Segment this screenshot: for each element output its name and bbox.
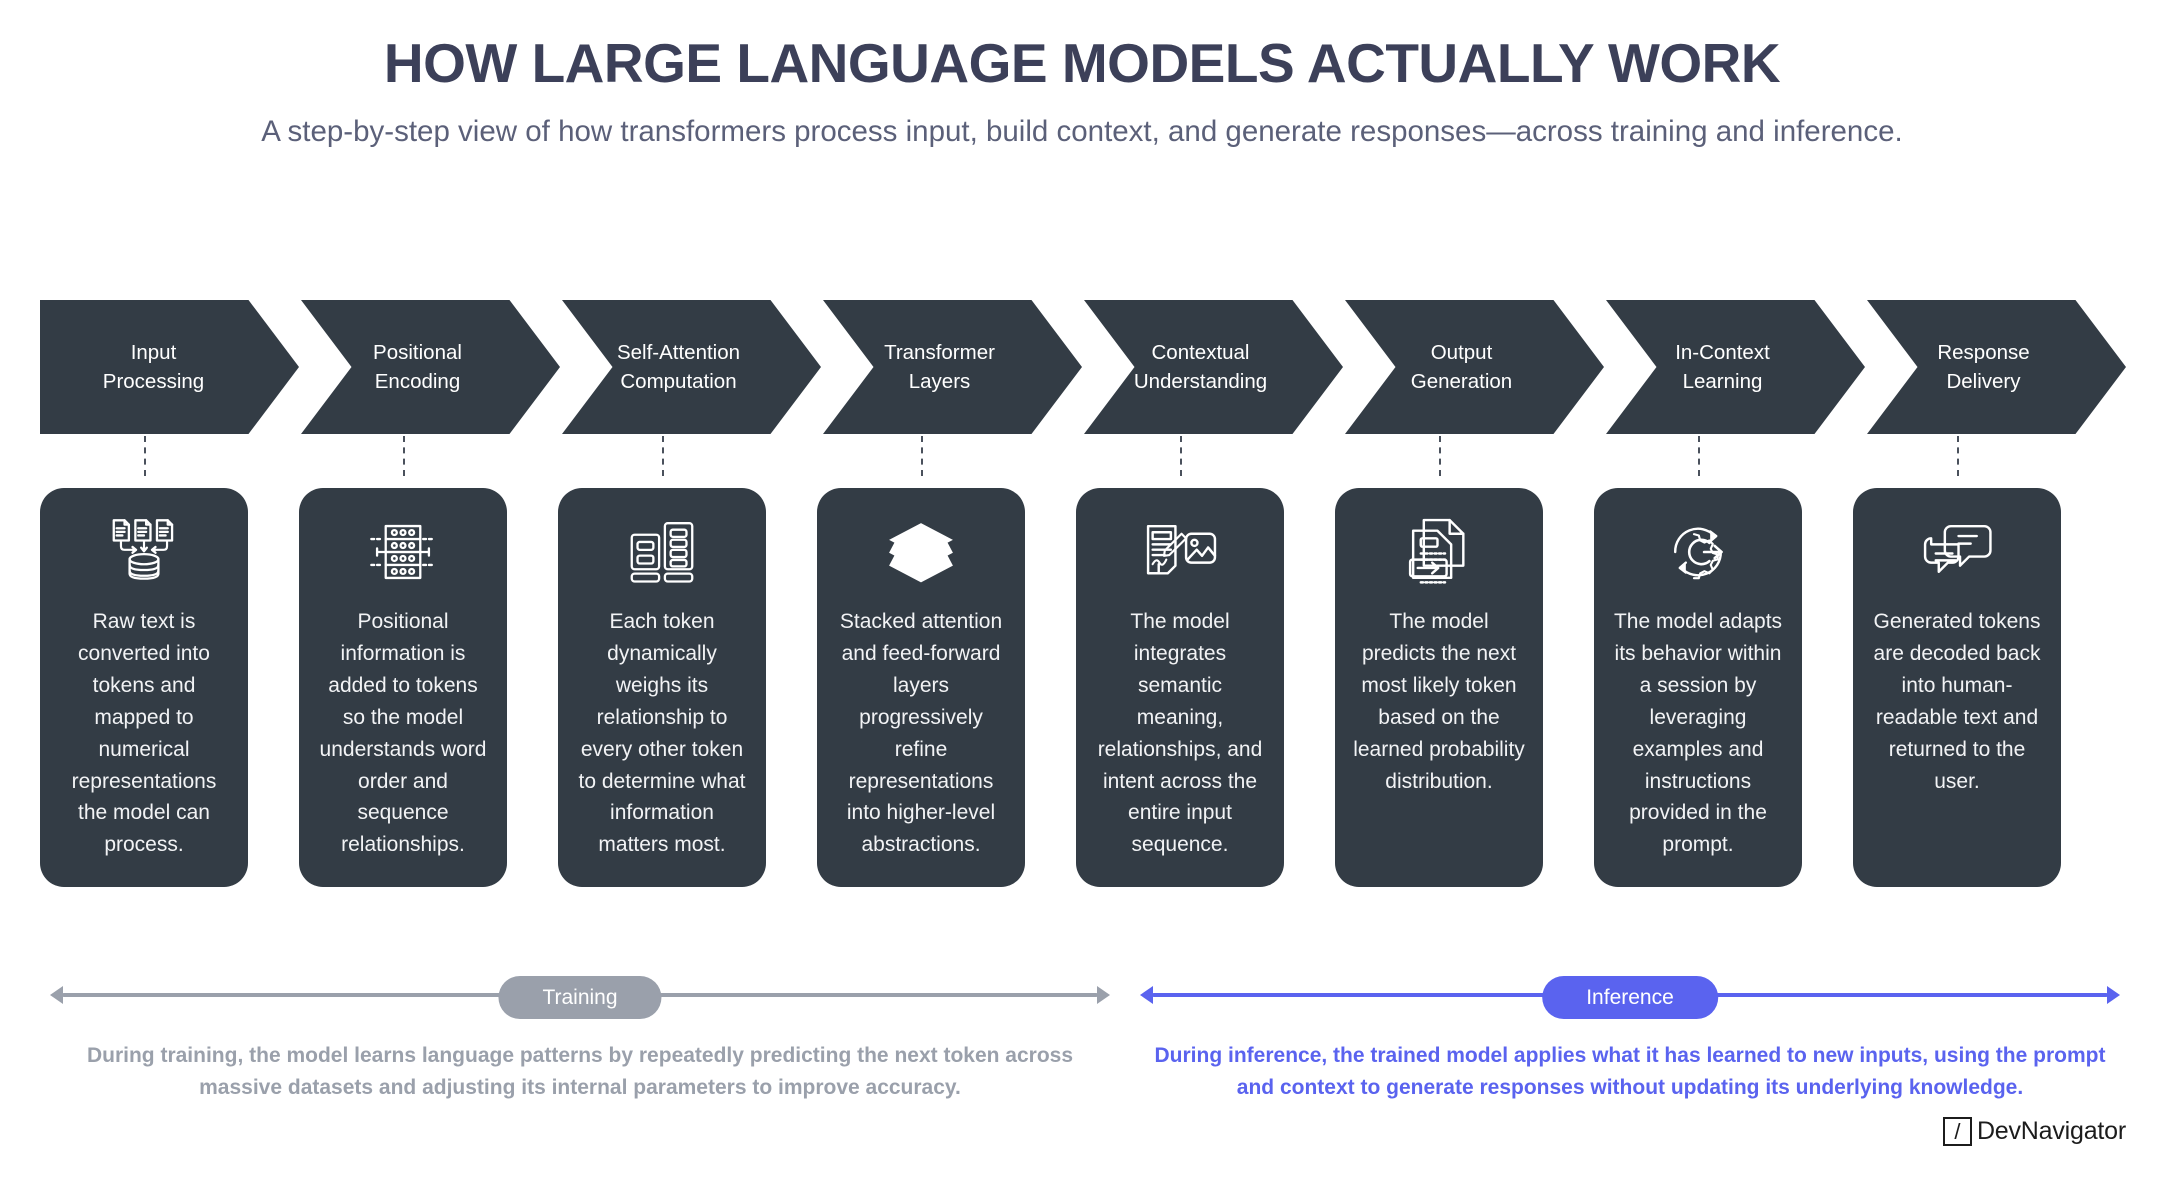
phase-training: Training During training, the model lear… [50, 978, 1110, 1104]
step-card-description: Stacked attention and feed-forward layer… [833, 606, 1009, 861]
chevron-label: Self-AttentionComputation [617, 338, 740, 396]
step-card-row: Raw text is converted into tokens and ma… [40, 488, 2126, 887]
chevron-label-line1: Output [1431, 341, 1493, 364]
step-card-description: The model integrates semantic meaning, r… [1092, 606, 1268, 861]
step-card-3[interactable]: Each token dynamically weighs its relati… [558, 488, 766, 887]
stacked-layers-icon [883, 516, 959, 588]
chevron-label: TransformerLayers [884, 338, 995, 396]
connector-line-2 [403, 436, 405, 476]
position-matrix-grid-icon [367, 516, 439, 588]
step-card-8[interactable]: Generated tokens are decoded back into h… [1853, 488, 2061, 887]
connector-line-5 [1180, 436, 1182, 476]
training-pill[interactable]: Training [498, 976, 661, 1019]
chevron-label-line2: Encoding [375, 370, 460, 393]
connector-line-4 [921, 436, 923, 476]
chevron-label-line2: Computation [620, 370, 736, 393]
step-card-description: Each token dynamically weighs its relati… [574, 606, 750, 861]
training-arrow-right-icon [1097, 986, 1110, 1004]
infographic-page: HOW LARGE LANGUAGE MODELS ACTUALLY WORK … [0, 0, 2164, 1188]
chevron-label-line1: Response [1937, 341, 2029, 364]
chevron-shape: InputProcessing [40, 300, 299, 434]
chevron-label: ResponseDelivery [1937, 338, 2029, 396]
document-pen-and-image-icon [1142, 516, 1218, 588]
step-card-7[interactable]: The model adapts its behavior within a s… [1594, 488, 1802, 887]
phase-row: Training During training, the model lear… [0, 978, 2164, 1104]
chevron-step-5[interactable]: ContextualUnderstanding [1084, 300, 1343, 434]
chevron-step-7[interactable]: In-ContextLearning [1606, 300, 1865, 434]
logo-text: DevNavigator [1977, 1117, 2126, 1146]
chevron-label-line1: Positional [373, 341, 462, 364]
chevron-step-1[interactable]: InputProcessing [40, 300, 299, 434]
chevron-label-line2: Processing [103, 370, 204, 393]
phase-inference: Inference During inference, the trained … [1140, 978, 2120, 1104]
step-card-6[interactable]: The model predicts the next most likely … [1335, 488, 1543, 887]
chevron-label-line1: Input [131, 341, 177, 364]
chevron-shape: In-ContextLearning [1606, 300, 1865, 434]
documents-with-arrow-icon [1401, 516, 1477, 588]
inference-pill[interactable]: Inference [1542, 976, 1718, 1019]
chevron-label-line1: Contextual [1151, 341, 1249, 364]
step-card-2[interactable]: Positional information is added to token… [299, 488, 507, 887]
chevron-label-line2: Layers [909, 370, 971, 393]
chevron-label: PositionalEncoding [373, 338, 462, 396]
training-description: During training, the model learns langua… [50, 1040, 1110, 1104]
chevron-shape: PositionalEncoding [301, 300, 560, 434]
chevron-shape: TransformerLayers [823, 300, 1082, 434]
training-arrow-left-icon [50, 986, 63, 1004]
chevron-step-8[interactable]: ResponseDelivery [1867, 300, 2126, 434]
documents-to-database-icon [108, 516, 180, 588]
step-card-description: Raw text is converted into tokens and ma… [56, 606, 232, 861]
chevron-label: ContextualUnderstanding [1134, 338, 1267, 396]
attention-panels-icon [626, 516, 698, 588]
inference-axis: Inference [1140, 978, 2120, 1012]
chevron-shape: Self-AttentionComputation [562, 300, 821, 434]
chevron-label-line2: Learning [1683, 370, 1763, 393]
chevron-label-line2: Understanding [1134, 370, 1267, 393]
chevron-label-line1: In-Context [1675, 341, 1770, 364]
chevron-label-line2: Generation [1411, 370, 1512, 393]
step-card-description: Generated tokens are decoded back into h… [1869, 606, 2045, 797]
connector-line-7 [1698, 436, 1700, 476]
connector-line-3 [662, 436, 664, 476]
connector-line-1 [144, 436, 146, 476]
connector-line-6 [1439, 436, 1441, 476]
logo-slash-icon: / [1943, 1117, 1972, 1146]
chevron-shape: OutputGeneration [1345, 300, 1604, 434]
step-card-1[interactable]: Raw text is converted into tokens and ma… [40, 488, 248, 887]
chevron-shape: ResponseDelivery [1867, 300, 2126, 434]
chevron-label-line1: Self-Attention [617, 341, 740, 364]
page-subtitle: A step-by-step view of how transformers … [212, 111, 1952, 153]
training-axis: Training [50, 978, 1110, 1012]
chevron-step-3[interactable]: Self-AttentionComputation [562, 300, 821, 434]
chevron-label-line1: Transformer [884, 341, 995, 364]
step-card-4[interactable]: Stacked attention and feed-forward layer… [817, 488, 1025, 887]
inference-arrow-right-icon [2107, 986, 2120, 1004]
chevron-step-4[interactable]: TransformerLayers [823, 300, 1082, 434]
inference-arrow-left-icon [1140, 986, 1153, 1004]
step-card-5[interactable]: The model integrates semantic meaning, r… [1076, 488, 1284, 887]
chevron-label: In-ContextLearning [1675, 338, 1770, 396]
header: HOW LARGE LANGUAGE MODELS ACTUALLY WORK … [0, 0, 2164, 153]
step-card-description: Positional information is added to token… [315, 606, 491, 861]
chevron-step-6[interactable]: OutputGeneration [1345, 300, 1604, 434]
chevron-label: InputProcessing [103, 338, 204, 396]
chevron-label-line2: Delivery [1946, 370, 2020, 393]
gear-refresh-cycle-icon [1660, 516, 1736, 588]
chat-bubbles-icon [1919, 516, 1995, 588]
chevron-label: OutputGeneration [1411, 338, 1512, 396]
inference-description: During inference, the trained model appl… [1140, 1040, 2120, 1104]
step-card-description: The model adapts its behavior within a s… [1610, 606, 1786, 861]
process-chevron-row: InputProcessingPositionalEncodingSelf-At… [40, 300, 2126, 434]
page-title: HOW LARGE LANGUAGE MODELS ACTUALLY WORK [0, 34, 2164, 93]
connector-line-8 [1957, 436, 1959, 476]
chevron-step-2[interactable]: PositionalEncoding [301, 300, 560, 434]
step-card-description: The model predicts the next most likely … [1351, 606, 1527, 797]
brand-logo: / DevNavigator [1943, 1117, 2126, 1146]
chevron-shape: ContextualUnderstanding [1084, 300, 1343, 434]
